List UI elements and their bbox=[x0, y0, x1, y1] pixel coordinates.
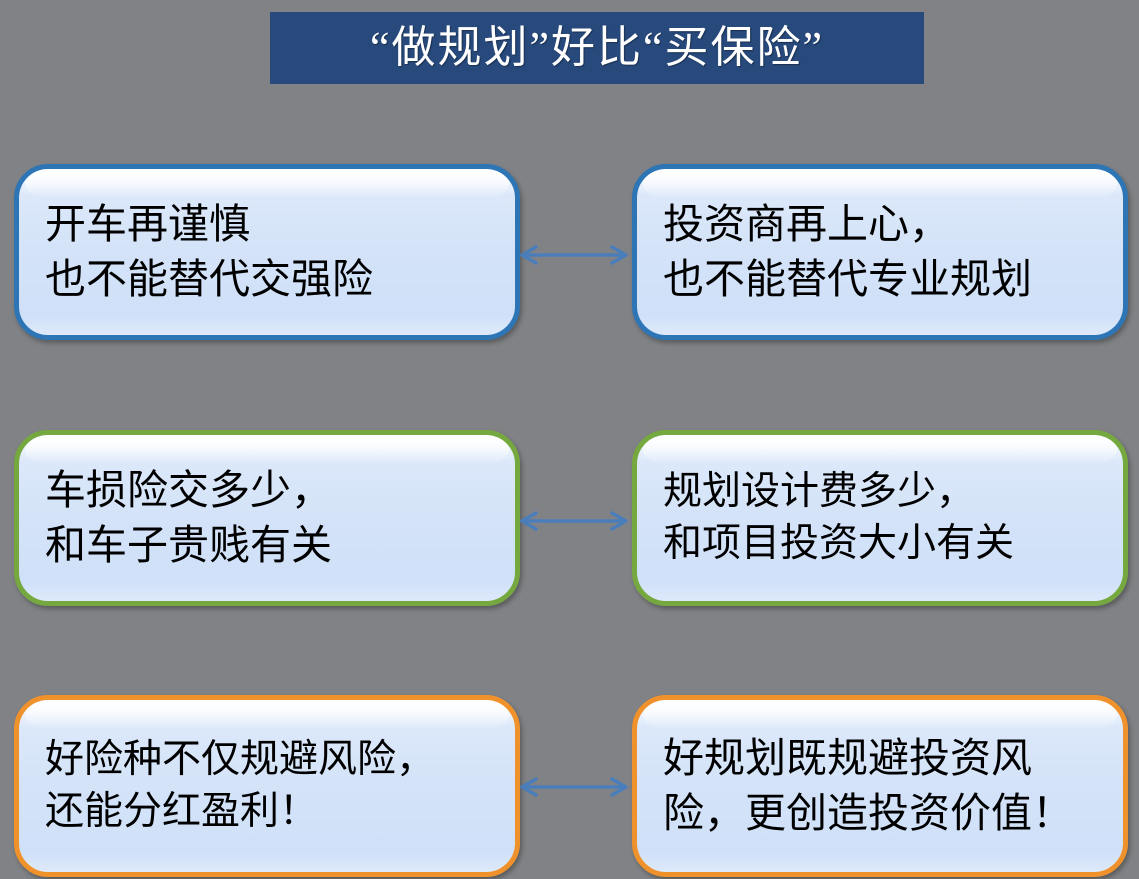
connector-arrow-row1 bbox=[516, 240, 632, 270]
title-banner: “做规划”好比“买保险” bbox=[270, 12, 924, 84]
slide-canvas: “做规划”好比“买保险” 开车再谨慎 也不能替代交强险 投资商再上心， 也不能替… bbox=[0, 0, 1139, 879]
callout-box-row1-left[interactable]: 开车再谨慎 也不能替代交强险 bbox=[14, 164, 520, 340]
callout-line: 车损险交多少， bbox=[45, 463, 515, 518]
callout-line: 险，更创造投资价值！ bbox=[663, 786, 1123, 841]
callout-box-row3-right[interactable]: 好规划既规避投资风 险，更创造投资价值！ bbox=[632, 695, 1128, 877]
connector-arrow-row3 bbox=[516, 772, 632, 802]
callout-line: 好险种不仅规避风险， bbox=[45, 734, 515, 786]
callout-line: 也不能替代专业规划 bbox=[663, 252, 1123, 307]
callout-line: 和车子贵贱有关 bbox=[45, 518, 515, 573]
page-title: “做规划”好比“买保险” bbox=[370, 26, 824, 70]
callout-box-row1-right[interactable]: 投资商再上心， 也不能替代专业规划 bbox=[632, 164, 1128, 340]
callout-box-row2-right[interactable]: 规划设计费多少， 和项目投资大小有关 bbox=[632, 430, 1128, 606]
callout-line: 投资商再上心， bbox=[663, 197, 1123, 252]
callout-line: 和项目投资大小有关 bbox=[663, 518, 1123, 570]
callout-line: 规划设计费多少， bbox=[663, 466, 1123, 518]
callout-line: 开车再谨慎 bbox=[45, 197, 515, 252]
callout-box-row2-left[interactable]: 车损险交多少， 和车子贵贱有关 bbox=[14, 430, 520, 606]
callout-line: 也不能替代交强险 bbox=[45, 252, 515, 307]
connector-arrow-row2 bbox=[516, 506, 632, 536]
callout-line: 还能分红盈利！ bbox=[45, 786, 515, 838]
callout-box-row3-left[interactable]: 好险种不仅规避风险， 还能分红盈利！ bbox=[14, 695, 520, 877]
callout-line: 好规划既规避投资风 bbox=[663, 731, 1123, 786]
